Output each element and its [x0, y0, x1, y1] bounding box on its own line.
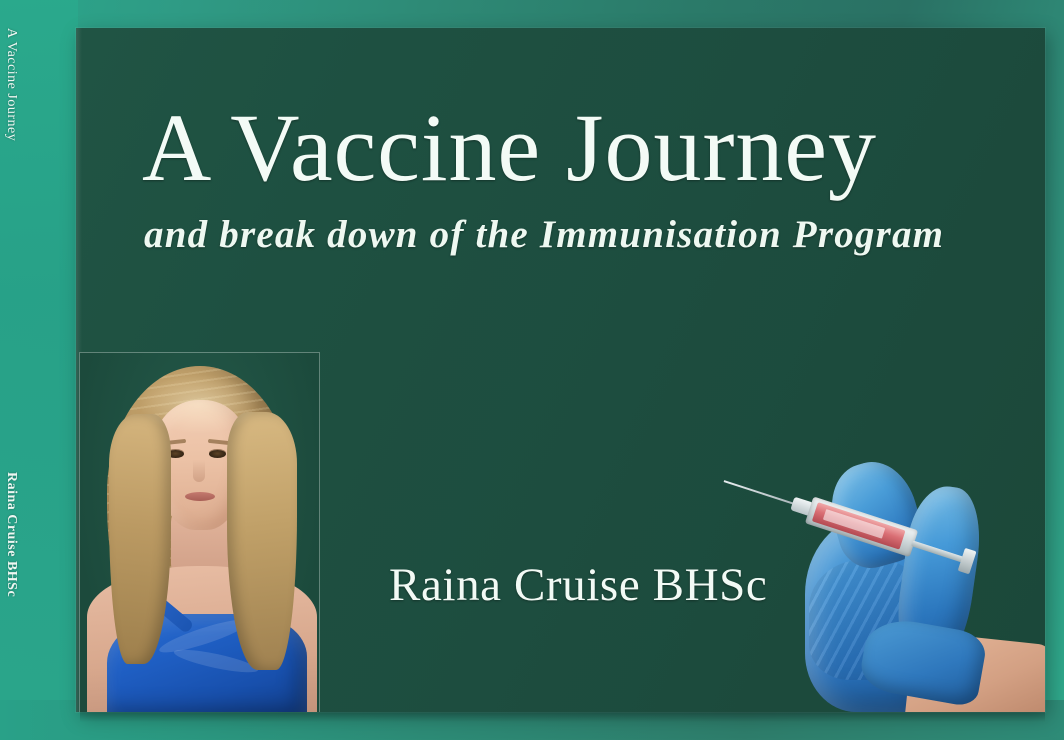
portrait-mouth — [185, 492, 215, 501]
cover-subtitle: and break down of the Immunisation Progr… — [144, 212, 1024, 257]
syringe-plunger-rod — [911, 540, 966, 563]
spine-author: Raina Cruise BHSc — [3, 472, 19, 496]
portrait-hair-left — [109, 414, 171, 664]
portrait-hair-right — [227, 412, 297, 670]
author-portrait-image — [79, 352, 320, 712]
cover-drop-shadow — [80, 712, 1045, 722]
portrait-hair-highlight — [139, 374, 259, 434]
portrait-eye-right — [209, 450, 226, 458]
portrait-nose — [193, 460, 205, 482]
spine-title: A Vaccine Journey — [3, 28, 19, 52]
book-cover-panel: A Vaccine Journey and break down of the … — [76, 28, 1045, 712]
cover-title: A Vaccine Journey — [142, 98, 1002, 198]
cover-author: Raina Cruise BHSc — [389, 558, 767, 612]
syringe-needle — [724, 480, 795, 505]
gloved-hand-syringe-image — [713, 442, 1045, 712]
